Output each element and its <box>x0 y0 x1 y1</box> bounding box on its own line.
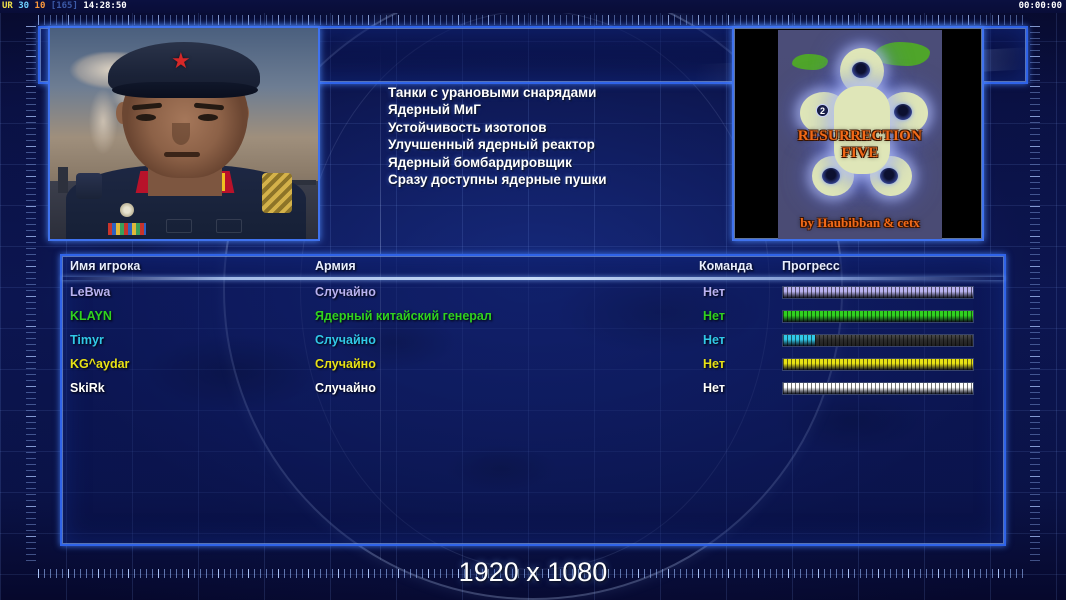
ability-item: Улучшенный ядерный реактор <box>388 136 688 153</box>
start-position-number-2: 2 <box>816 104 829 117</box>
cap-brim <box>112 82 258 98</box>
column-header-progress: Прогресс <box>782 259 840 273</box>
ability-item: Сразу доступны ядерные пушки <box>388 171 688 188</box>
general-portrait <box>48 26 320 241</box>
start-position-top <box>852 62 870 78</box>
ability-item: Ядерный МиГ <box>388 101 688 118</box>
crocodile-icon-left <box>792 54 828 70</box>
status-token-frames: [165] <box>51 1 78 11</box>
start-position-bottom-right <box>880 168 898 184</box>
resolution-overlay: 1920 x 1080 <box>0 557 1066 588</box>
player-army: Случайно <box>315 357 376 371</box>
epaulette-left <box>76 173 102 199</box>
status-bar: UR 30 10 [165] 14:28:50 00:00:00 <box>0 0 1066 13</box>
player-team: Нет <box>703 285 725 299</box>
player-progress-bar <box>782 358 974 371</box>
eye-left <box>136 114 156 121</box>
mouth <box>164 152 200 157</box>
player-name: KG^aydar <box>70 357 129 371</box>
status-bar-timer: 00:00:00 <box>1019 1 1062 11</box>
player-list-panel: Имя игрока Армия Команда Прогресс LeBwaС… <box>60 254 1006 546</box>
map-image: 2 RESURRECTION FIVE by Haubibban & cetx <box>778 30 942 239</box>
player-team: Нет <box>703 381 725 395</box>
player-progress-bar <box>782 382 974 395</box>
column-header-name: Имя игрока <box>70 259 140 273</box>
progress-segments <box>783 335 973 346</box>
player-name: Timyr <box>70 333 104 347</box>
player-army: Случайно <box>315 285 376 299</box>
table-row[interactable]: LeBwaСлучайноНет <box>62 282 1004 306</box>
status-token-ur: UR <box>2 1 13 11</box>
ability-item: Танки с урановыми снарядами <box>388 84 688 101</box>
progress-segments <box>783 311 973 322</box>
start-position-right <box>894 104 912 120</box>
player-progress-bar <box>782 334 974 347</box>
progress-segments <box>783 287 973 298</box>
table-header: Имя игрока Армия Команда Прогресс <box>62 256 1004 280</box>
table-row[interactable]: SkiRkСлучайноНет <box>62 378 1004 402</box>
column-header-team: Команда <box>699 259 753 273</box>
pocket-left <box>166 219 192 233</box>
structure-a <box>58 167 68 193</box>
map-title-line2: FIVE <box>841 145 878 161</box>
start-position-bottom-left <box>822 168 840 184</box>
ruler-left <box>26 26 36 566</box>
uniform-badge-icon <box>120 203 134 217</box>
player-progress-bar <box>782 286 974 299</box>
column-header-army: Армия <box>315 259 356 273</box>
ruler-right <box>1030 26 1040 566</box>
player-army: Ядерный китайский генерал <box>315 309 492 323</box>
table-row[interactable]: TimyrСлучайноНет <box>62 330 1004 354</box>
status-token-clock: 14:28:50 <box>83 1 126 11</box>
main-frame: Генерал Тао <box>38 26 1028 566</box>
ability-item: Ядерный бомбардировщик <box>388 154 688 171</box>
progress-segments <box>783 359 973 370</box>
player-name: KLAYN <box>70 309 112 323</box>
player-army: Случайно <box>315 381 376 395</box>
status-token-fps: 10 <box>35 1 46 11</box>
map-author: by Haubibban & cetx <box>778 215 942 231</box>
epaulette-right <box>262 173 292 213</box>
status-bar-left: UR 30 10 [165] 14:28:50 <box>2 1 127 11</box>
player-team: Нет <box>703 357 725 371</box>
table-row[interactable]: KG^aydarСлучайноНет <box>62 354 1004 378</box>
ability-item: Устойчивость изотопов <box>388 119 688 136</box>
medal-ribbons <box>108 223 146 235</box>
progress-segments <box>783 383 973 394</box>
map-title: RESURRECTION FIVE <box>778 128 942 162</box>
map-preview[interactable]: 2 RESURRECTION FIVE by Haubibban & cetx <box>732 26 984 241</box>
player-progress-bar <box>782 310 974 323</box>
table-header-divider <box>62 277 1004 280</box>
status-token-ping: 30 <box>18 1 29 11</box>
pocket-right <box>216 219 242 233</box>
nose <box>172 123 190 145</box>
table-row[interactable]: KLAYNЯдерный китайский генералНет <box>62 306 1004 330</box>
player-name: SkiRk <box>70 381 105 395</box>
player-name: LeBwa <box>70 285 110 299</box>
player-army: Случайно <box>315 333 376 347</box>
map-title-line1: RESURRECTION <box>798 128 922 144</box>
player-team: Нет <box>703 333 725 347</box>
ruler-top <box>38 15 1028 25</box>
player-team: Нет <box>703 309 725 323</box>
eye-right <box>198 114 218 121</box>
general-abilities-list: Танки с урановыми снарядами Ядерный МиГ … <box>388 84 688 188</box>
